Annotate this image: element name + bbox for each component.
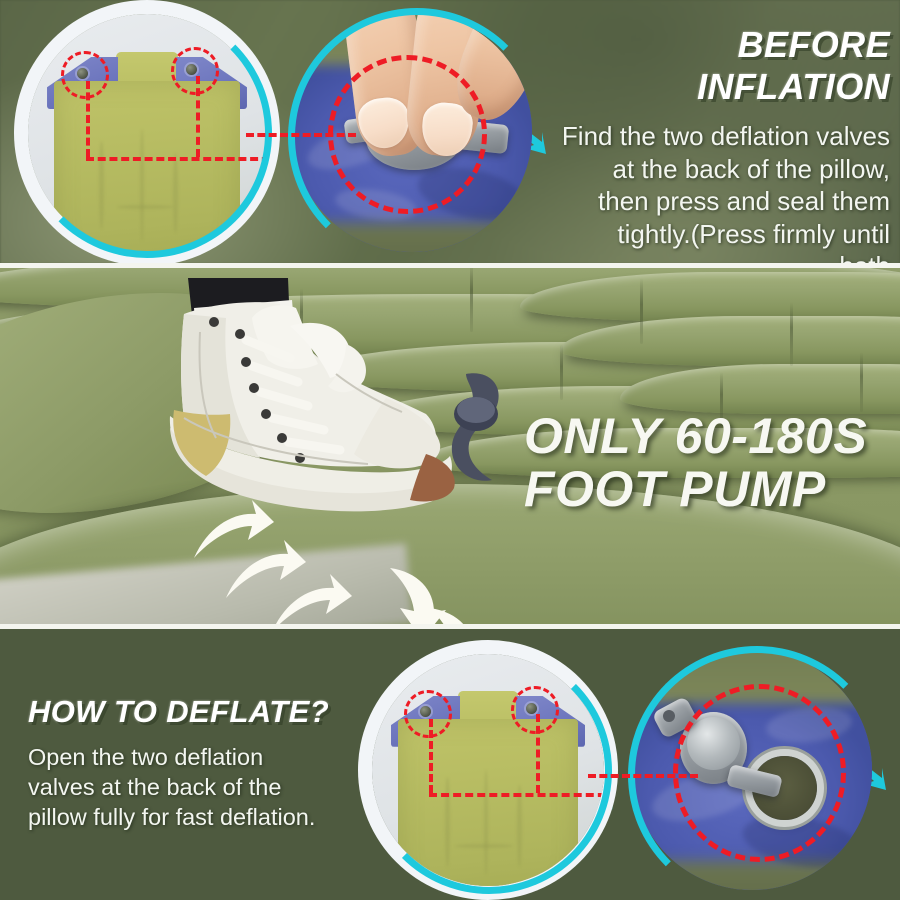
callout-line-horizontal	[86, 157, 266, 161]
infographic-canvas: BEFORE INFLATION Find the two deflation …	[0, 0, 900, 900]
callout-line-horizontal	[429, 793, 604, 797]
pillow-body	[54, 81, 240, 252]
middle-headline-line-2: FOOT PUMP	[524, 463, 900, 516]
pillow-body	[398, 719, 579, 886]
blurred-backdrop-bottom	[292, 223, 532, 252]
top-body-text: Find the two deflation valves at the bac…	[560, 120, 890, 264]
inset-pillow-back-overview-bottom	[372, 654, 604, 886]
band-divider-top	[0, 263, 900, 268]
bottom-headline: HOW TO DEFLATE?	[28, 694, 348, 730]
top-text-block: BEFORE INFLATION Find the two deflation …	[560, 24, 890, 264]
panel-how-to-deflate: HOW TO DEFLATE? Open the two deflation v…	[0, 632, 900, 900]
middle-text-block: ONLY 60-180S FOOT PUMP	[524, 410, 900, 516]
pillow-scene	[372, 654, 604, 886]
bottom-text-block: HOW TO DEFLATE? Open the two deflation v…	[28, 694, 348, 832]
callout-connector-bottom	[588, 774, 698, 778]
blue-fabric	[632, 650, 872, 890]
airflow-arrow-up-3	[268, 570, 354, 624]
middle-headline: ONLY 60-180S FOOT PUMP	[524, 410, 900, 516]
middle-headline-line-1: ONLY 60-180S	[524, 410, 900, 463]
inset-pressing-valve-closeup	[292, 12, 532, 252]
callout-line-right-vertical	[196, 76, 200, 157]
valve-area-highlight	[673, 684, 846, 862]
pillow-scene	[28, 14, 266, 252]
top-body-line: at the back of the pillow,	[560, 153, 890, 186]
blue-fabric	[292, 12, 532, 252]
inset-pillow-back-overview-top	[28, 14, 266, 252]
panel-foot-pump: ONLY 60-180S FOOT PUMP	[0, 268, 900, 624]
callout-connector-top	[246, 133, 356, 137]
callout-line-left-vertical	[429, 719, 433, 793]
panel-before-inflation: BEFORE INFLATION Find the two deflation …	[0, 0, 900, 264]
callout-line-left-vertical	[86, 81, 90, 157]
airflow-arrow-down-2	[418, 604, 490, 624]
band-divider-bottom	[0, 624, 900, 629]
top-body-line: Find the two deflation valves	[560, 120, 890, 153]
top-body-line: then press and seal them	[560, 185, 890, 218]
bottom-body-line: Open the two deflation	[28, 742, 348, 772]
callout-line-right-vertical	[536, 714, 540, 793]
bottom-body-line: pillow fully for fast deflation.	[28, 802, 348, 832]
inset-open-valve-closeup	[632, 650, 872, 890]
top-headline: BEFORE INFLATION	[560, 24, 890, 108]
bottom-body-line: valves at the back of the	[28, 772, 348, 802]
top-body-line: tightly.(Press firmly until both	[560, 218, 890, 265]
bottom-body-text: Open the two deflation valves at the bac…	[28, 742, 348, 832]
